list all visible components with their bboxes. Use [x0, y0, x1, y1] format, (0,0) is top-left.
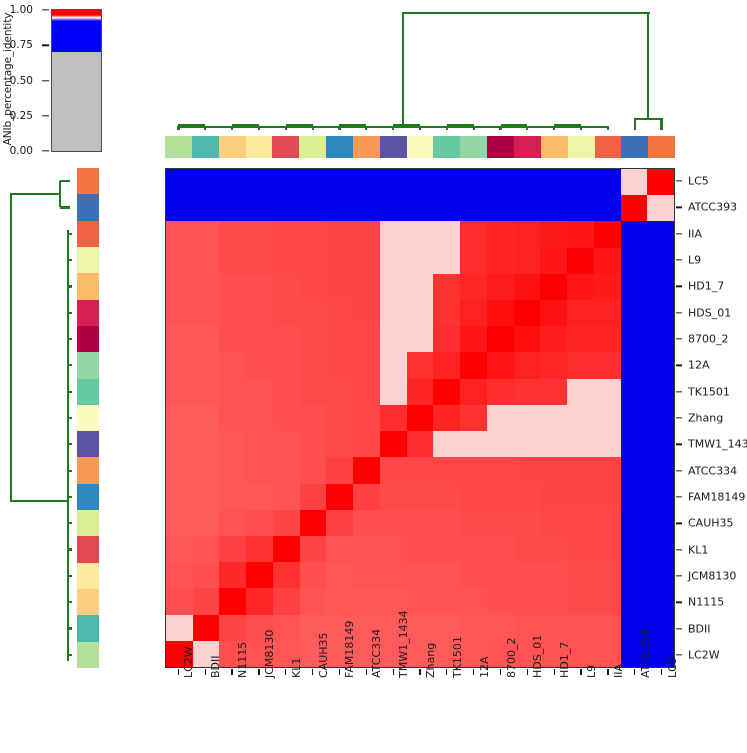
- heatmap-cell: [353, 405, 380, 431]
- row-annotation-cell: [77, 405, 99, 431]
- colorbar-panel: ANIb_percentage_identity 1.000.750.500.2…: [0, 0, 165, 165]
- column-label-Zhang: Zhang: [424, 643, 437, 678]
- heatmap-cell: [460, 562, 487, 588]
- heatmap-cell: [166, 457, 193, 483]
- heatmap-cell: [219, 221, 246, 247]
- heatmap-cell: [540, 221, 567, 247]
- heatmap-panel: [165, 168, 675, 668]
- heatmap-cell: [326, 379, 353, 405]
- row-annotation-cell: [77, 589, 99, 615]
- heatmap-cell: [567, 588, 594, 614]
- heatmap-cell: [647, 405, 674, 431]
- heatmap-cell: [407, 274, 434, 300]
- row-annotation-cell: [77, 615, 99, 641]
- heatmap-cell: [246, 510, 273, 536]
- row-label-CAUH35: CAUH35: [688, 517, 734, 530]
- heatmap-cell: [273, 457, 300, 483]
- column-tickmark: [312, 669, 313, 675]
- heatmap-cell: [460, 457, 487, 483]
- heatmap-cell: [300, 169, 327, 195]
- heatmap-cell: [193, 510, 220, 536]
- column-annotation-cell: [595, 136, 622, 158]
- heatmap-cell: [273, 431, 300, 457]
- row-annotation-strip: [77, 168, 99, 668]
- heatmap-cell: [540, 431, 567, 457]
- heatmap-cell: [540, 326, 567, 352]
- heatmap-cell: [353, 195, 380, 221]
- heatmap-cell: [246, 195, 273, 221]
- heatmap-cell: [380, 405, 407, 431]
- heatmap-cell: [166, 588, 193, 614]
- dendrogram-leaf-12: [68, 496, 72, 498]
- heatmap-cell: [487, 248, 514, 274]
- heatmap-cell: [273, 588, 300, 614]
- row-label-JCM8130: JCM8130: [688, 569, 736, 582]
- column-annotation-strip: [165, 136, 675, 158]
- dendrogram-branch-pair-6: [501, 124, 528, 126]
- heatmap-cell: [246, 221, 273, 247]
- heatmap-cell: [567, 405, 594, 431]
- row-label-HDS_01: HDS_01: [688, 306, 731, 319]
- heatmap-cell: [540, 536, 567, 562]
- heatmap-cell: [460, 510, 487, 536]
- row-label-KL1: KL1: [688, 543, 708, 556]
- row-annotation-cell: [77, 300, 99, 326]
- heatmap-cell: [514, 405, 541, 431]
- row-label-ATCC334: ATCC334: [688, 464, 737, 477]
- row-annotation-cell: [77, 536, 99, 562]
- row-tickmark: [676, 259, 682, 260]
- heatmap-cell: [460, 431, 487, 457]
- heatmap-cell: [380, 510, 407, 536]
- heatmap-cell: [433, 352, 460, 378]
- heatmap-cell: [326, 326, 353, 352]
- column-annotation-cell: [514, 136, 541, 158]
- heatmap-cell: [246, 588, 273, 614]
- column-label-L9: L9: [585, 665, 598, 678]
- row-label-BDII: BDII: [688, 622, 711, 635]
- dendrogram-leaf-1: [204, 126, 206, 130]
- dendrogram-leaf-16: [68, 601, 72, 603]
- row-tickmark: [676, 470, 682, 471]
- column-annotation-cell: [621, 136, 648, 158]
- heatmap-cell: [407, 248, 434, 274]
- heatmap-cell: [219, 326, 246, 352]
- column-label-CAUH35: CAUH35: [317, 632, 330, 678]
- heatmap-cell: [460, 248, 487, 274]
- dendrogram-leaf-3: [68, 259, 72, 261]
- dendrogram-branch-pair-1: [232, 124, 259, 126]
- heatmap-cell: [273, 169, 300, 195]
- column-annotation-cell: [219, 136, 246, 158]
- row-label-L9: L9: [688, 254, 701, 267]
- heatmap-cell: [407, 536, 434, 562]
- heatmap-cell: [514, 352, 541, 378]
- heatmap-cell: [219, 300, 246, 326]
- heatmap-cell: [193, 169, 220, 195]
- heatmap-cell: [567, 248, 594, 274]
- heatmap-cell: [567, 379, 594, 405]
- dendrogram-leaf-5: [68, 312, 72, 314]
- dendrogram-branch-outgroup: [635, 118, 662, 120]
- heatmap-cell: [219, 457, 246, 483]
- heatmap-cell: [594, 457, 621, 483]
- heatmap-cell: [647, 588, 674, 614]
- heatmap-cell: [407, 221, 434, 247]
- row-label-8700_2: 8700_2: [688, 333, 729, 346]
- heatmap-cell: [647, 352, 674, 378]
- heatmap-cell: [621, 484, 648, 510]
- column-annotation-cell: [568, 136, 595, 158]
- heatmap-cell: [380, 484, 407, 510]
- row-label-Zhang: Zhang: [688, 412, 723, 425]
- heatmap-cell: [487, 405, 514, 431]
- dendrogram-leaf-8: [68, 391, 72, 393]
- heatmap-cell: [514, 457, 541, 483]
- heatmap-cell: [540, 562, 567, 588]
- heatmap-cell: [433, 588, 460, 614]
- heatmap-cell: [326, 431, 353, 457]
- heatmap-cell: [460, 484, 487, 510]
- row-annotation-cell: [77, 642, 99, 668]
- heatmap-cell: [353, 562, 380, 588]
- heatmap-cell: [567, 457, 594, 483]
- heatmap-cell: [300, 431, 327, 457]
- heatmap-cell: [487, 352, 514, 378]
- heatmap-cell: [326, 274, 353, 300]
- heatmap-cell: [380, 457, 407, 483]
- heatmap-cell: [326, 195, 353, 221]
- heatmap-cell: [514, 431, 541, 457]
- heatmap-cell: [514, 195, 541, 221]
- heatmap-cell: [246, 405, 273, 431]
- column-tickmark: [285, 669, 286, 675]
- dendrogram-leaf-8: [392, 126, 394, 130]
- heatmap-cell: [514, 379, 541, 405]
- heatmap-cell: [166, 562, 193, 588]
- column-tickmark: [580, 669, 581, 675]
- heatmap-cell: [594, 195, 621, 221]
- dendrogram-branch-pair-7: [554, 124, 581, 126]
- heatmap-cell: [380, 352, 407, 378]
- heatmap-cell: [647, 221, 674, 247]
- heatmap-cell: [166, 352, 193, 378]
- dendrogram-branch-pair-5: [447, 124, 474, 126]
- heatmap-cell: [567, 326, 594, 352]
- heatmap-cell: [219, 562, 246, 588]
- heatmap-cell: [621, 510, 648, 536]
- heatmap-cell: [594, 536, 621, 562]
- row-label-TK1501: TK1501: [688, 385, 730, 398]
- column-tickmark: [527, 669, 528, 675]
- column-tickmark: [554, 669, 555, 675]
- heatmap-cell: [219, 405, 246, 431]
- heatmap-cell: [487, 195, 514, 221]
- heatmap-cell: [540, 195, 567, 221]
- heatmap-cell: [246, 248, 273, 274]
- heatmap-cell: [193, 588, 220, 614]
- heatmap-cell: [326, 248, 353, 274]
- heatmap-cell: [594, 484, 621, 510]
- heatmap-cell: [460, 352, 487, 378]
- heatmap-cell: [647, 326, 674, 352]
- heatmap-cell: [514, 562, 541, 588]
- heatmap-cell: [407, 405, 434, 431]
- column-tickmark: [231, 669, 232, 675]
- column-label-HD1_7: HD1_7: [558, 642, 571, 678]
- dendrogram-leaf-5: [312, 126, 314, 130]
- colorbar-tick-labels: 1.000.750.500.250.00: [0, 0, 49, 165]
- heatmap-cell: [300, 484, 327, 510]
- heatmap-cell: [353, 588, 380, 614]
- heatmap-cell: [219, 484, 246, 510]
- column-tickmark: [473, 669, 474, 675]
- heatmap-cell: [380, 536, 407, 562]
- dendrogram-root-lower: [10, 500, 68, 502]
- heatmap-cell: [621, 457, 648, 483]
- row-label-N1115: N1115: [688, 596, 724, 609]
- heatmap-cell: [193, 431, 220, 457]
- heatmap-cell: [621, 300, 648, 326]
- column-label-TK1501: TK1501: [451, 636, 464, 678]
- heatmap-cell: [407, 562, 434, 588]
- dendrogram-leaf-15: [68, 575, 72, 577]
- heatmap-cell: [647, 300, 674, 326]
- dendrogram-leaf-17: [634, 118, 636, 130]
- dendrogram-branch-pair-3: [339, 124, 366, 126]
- column-tickmark: [366, 669, 367, 675]
- heatmap-cell: [380, 221, 407, 247]
- heatmap-cell: [460, 326, 487, 352]
- heatmap-cell: [380, 431, 407, 457]
- heatmap-cell: [407, 431, 434, 457]
- column-dendrogram: [165, 6, 675, 134]
- heatmap-cell: [166, 326, 193, 352]
- dendrogram-root-link: [10, 194, 12, 501]
- heatmap-cell: [353, 221, 380, 247]
- heatmap-cell: [594, 352, 621, 378]
- heatmap-cell: [407, 169, 434, 195]
- colorbar-gradient: [51, 9, 102, 152]
- heatmap-cell: [193, 457, 220, 483]
- column-tickmark: [393, 669, 394, 675]
- column-tickmark: [607, 669, 608, 675]
- heatmap-cell: [166, 431, 193, 457]
- heatmap-cell: [353, 326, 380, 352]
- heatmap-cell: [567, 274, 594, 300]
- heatmap-cell: [487, 169, 514, 195]
- heatmap-cell: [219, 169, 246, 195]
- row-annotation-cell: [77, 352, 99, 378]
- heatmap-cell: [594, 300, 621, 326]
- heatmap-cell: [540, 510, 567, 536]
- heatmap-cell: [594, 169, 621, 195]
- colorbar-tickmark: [42, 9, 49, 10]
- heatmap-cell: [433, 405, 460, 431]
- heatmap-cell: [621, 431, 648, 457]
- column-tickmark: [500, 669, 501, 675]
- dendrogram-leaf-11: [473, 126, 475, 130]
- heatmap-cell: [300, 274, 327, 300]
- dendrogram-leaf-14: [553, 126, 555, 130]
- dendrogram-root-upper: [10, 193, 60, 195]
- heatmap-cell: [647, 536, 674, 562]
- column-annotation-cell: [487, 136, 514, 158]
- heatmap-cell: [487, 484, 514, 510]
- heatmap-cell: [433, 510, 460, 536]
- heatmap-cell: [219, 352, 246, 378]
- heatmap-cell: [300, 588, 327, 614]
- heatmap-cell: [326, 562, 353, 588]
- dendrogram-leaf-4: [68, 285, 72, 287]
- row-label-LC5: LC5: [688, 175, 709, 188]
- heatmap-cell: [460, 221, 487, 247]
- heatmap-cell: [353, 300, 380, 326]
- heatmap-cell: [326, 221, 353, 247]
- heatmap-cell: [219, 536, 246, 562]
- heatmap-cell: [540, 300, 567, 326]
- colorbar-tick-0.25: 0.25: [10, 110, 33, 122]
- heatmap-cell: [273, 274, 300, 300]
- heatmap-cell: [300, 248, 327, 274]
- heatmap-cell: [273, 562, 300, 588]
- heatmap-cell: [193, 536, 220, 562]
- column-annotation-cell: [433, 136, 460, 158]
- row-tickmark: [676, 417, 682, 418]
- heatmap-cell: [300, 457, 327, 483]
- dendrogram-leaf-6: [338, 126, 340, 130]
- heatmap-cell: [193, 615, 220, 641]
- column-label-FAM18149: FAM18149: [343, 621, 356, 678]
- heatmap-cell: [166, 195, 193, 221]
- row-tickmark: [676, 602, 682, 603]
- heatmap-cell: [487, 588, 514, 614]
- heatmap-cell: [487, 274, 514, 300]
- dendrogram-leaf-13: [68, 522, 72, 524]
- heatmap-cell: [460, 379, 487, 405]
- dendrogram-leaf-15: [580, 126, 582, 130]
- colorbar-tickmark: [42, 80, 49, 81]
- heatmap-cell: [621, 169, 648, 195]
- dendrogram-leaf-6: [68, 338, 72, 340]
- heatmap-cell: [380, 274, 407, 300]
- heatmap-cell: [460, 536, 487, 562]
- column-label-12A: 12A: [478, 656, 491, 678]
- heatmap-cell: [326, 352, 353, 378]
- heatmap-cell: [647, 431, 674, 457]
- heatmap-cell: [433, 195, 460, 221]
- column-annotation-cell: [246, 136, 273, 158]
- heatmap-cell: [540, 248, 567, 274]
- row-label-ATCC393: ATCC393: [688, 201, 737, 214]
- heatmap-cell: [621, 352, 648, 378]
- column-tickmark: [339, 669, 340, 675]
- heatmap-cell: [300, 510, 327, 536]
- heatmap-cell: [353, 352, 380, 378]
- heatmap-cell: [647, 562, 674, 588]
- heatmap-cell: [514, 274, 541, 300]
- heatmap-cell: [273, 536, 300, 562]
- heatmap-cell: [567, 484, 594, 510]
- colorbar-tick-1.00: 1.00: [10, 4, 33, 16]
- colorbar-tickmark: [42, 150, 49, 151]
- heatmap-cell: [380, 562, 407, 588]
- heatmap-cell: [300, 326, 327, 352]
- heatmap-cell: [433, 457, 460, 483]
- column-label-8700_2: 8700_2: [505, 638, 518, 679]
- heatmap-cell: [166, 300, 193, 326]
- heatmap-cell: [514, 484, 541, 510]
- heatmap-cell: [540, 352, 567, 378]
- column-annotation-cell: [165, 136, 192, 158]
- heatmap-cell: [246, 326, 273, 352]
- row-annotation-cell: [77, 273, 99, 299]
- heatmap-cell: [273, 300, 300, 326]
- heatmap-cell: [487, 562, 514, 588]
- heatmap-cell: [246, 431, 273, 457]
- heatmap-cell: [166, 615, 193, 641]
- heatmap-cell: [219, 510, 246, 536]
- dendrogram-leaf-17: [68, 627, 72, 629]
- heatmap-cell: [166, 536, 193, 562]
- row-tickmark: [676, 496, 682, 497]
- row-label-IIA: IIA: [688, 227, 702, 240]
- colorbar-tick-0.75: 0.75: [10, 39, 33, 51]
- row-tickmark: [676, 233, 682, 234]
- heatmap-cell: [193, 274, 220, 300]
- heatmap-cell: [380, 326, 407, 352]
- heatmap-cell: [219, 615, 246, 641]
- heatmap-cell: [353, 274, 380, 300]
- row-tickmark: [676, 312, 682, 313]
- heatmap-cell: [433, 562, 460, 588]
- heatmap-cell: [326, 169, 353, 195]
- heatmap-cell: [621, 536, 648, 562]
- dendrogram-leaf-7: [68, 364, 72, 366]
- dendrogram-leaf-7: [365, 126, 367, 130]
- dendrogram-leaf-12: [499, 126, 501, 130]
- heatmap-cell: [300, 536, 327, 562]
- heatmap-cell: [193, 195, 220, 221]
- column-tickmark: [661, 669, 662, 675]
- row-annotation-cell: [77, 247, 99, 273]
- colorbar-tick-0.50: 0.50: [10, 75, 33, 87]
- dendrogram-leaf-9: [68, 417, 72, 419]
- heatmap-cell: [273, 326, 300, 352]
- row-label-LC2W: LC2W: [688, 648, 720, 661]
- heatmap-cell: [326, 405, 353, 431]
- heatmap-cell: [514, 248, 541, 274]
- heatmap-cell: [514, 326, 541, 352]
- heatmap-cell: [246, 536, 273, 562]
- heatmap-cell: [594, 379, 621, 405]
- heatmap-cell: [647, 248, 674, 274]
- row-tickmark: [676, 365, 682, 366]
- heatmap-cell: [166, 169, 193, 195]
- heatmap-cell: [647, 274, 674, 300]
- heatmap-cell: [487, 457, 514, 483]
- dendrogram-leaf-2: [231, 126, 233, 130]
- heatmap-cell: [300, 195, 327, 221]
- dendrogram-leaf-0: [60, 180, 70, 182]
- heatmap-cell: [514, 588, 541, 614]
- heatmap-cell: [594, 405, 621, 431]
- column-label-ATCC393: ATCC393: [639, 629, 652, 678]
- dendrogram-leaf-11: [68, 470, 72, 472]
- heatmap-cell: [567, 195, 594, 221]
- heatmap-cell: [219, 379, 246, 405]
- column-tickmark: [178, 669, 179, 675]
